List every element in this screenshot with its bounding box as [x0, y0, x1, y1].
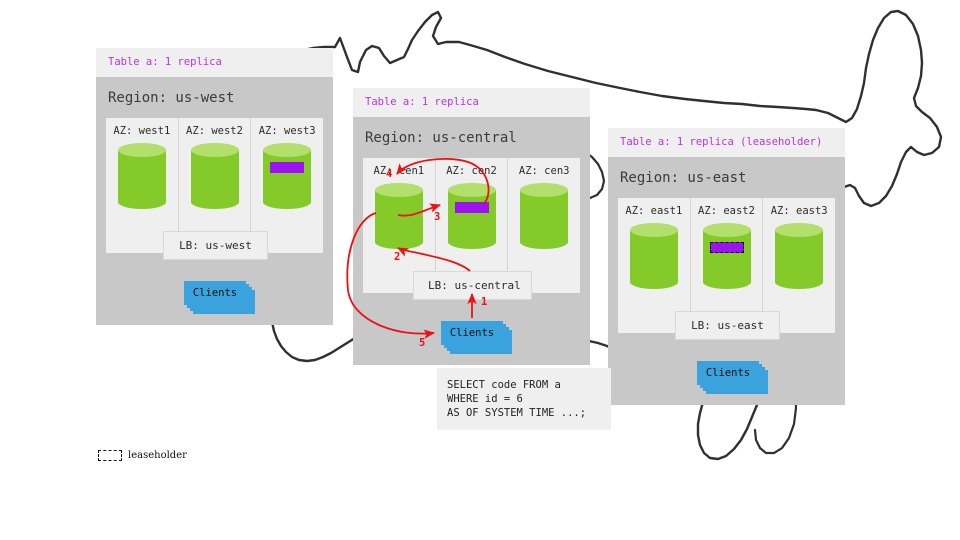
cylinder-body	[775, 230, 823, 282]
node-cylinder-east3[interactable]	[775, 223, 823, 289]
region-name-us-central: Region: us-central	[353, 117, 590, 158]
flow-step-number-3: 3	[434, 211, 440, 223]
node-cylinder-west2[interactable]	[191, 143, 239, 209]
node-cylinder-east2[interactable]	[703, 223, 751, 289]
cylinder-top	[630, 223, 678, 237]
az-label-east3: AZ: east3	[763, 205, 835, 217]
az-label-west3: AZ: west3	[251, 125, 323, 137]
range-replica-west3[interactable]	[270, 162, 304, 173]
node-cylinder-east1[interactable]	[630, 223, 678, 289]
load-balancer-us-east[interactable]: LB: us-east	[675, 311, 780, 340]
cylinder-body	[448, 190, 496, 242]
node-cylinder-cen2[interactable]	[448, 183, 496, 249]
sql-query-note: SELECT code FROM a WHERE id = 6 AS OF SY…	[437, 368, 611, 430]
region-name-us-east: Region: us-east	[608, 157, 845, 198]
diagram-canvas: Table a: 1 replica Region: us-west AZ: w…	[0, 0, 960, 540]
cylinder-body	[375, 190, 423, 242]
flow-step-number-5: 5	[419, 337, 425, 349]
az-label-west2: AZ: west2	[179, 125, 251, 137]
cylinder-body	[703, 230, 751, 282]
node-cylinder-west1[interactable]	[118, 143, 166, 209]
clients-stack-us-central[interactable]: Clients	[441, 321, 503, 345]
cylinder-top	[703, 223, 751, 237]
flow-step-number-1: 1	[481, 296, 487, 308]
range-replica-cen2[interactable]	[455, 202, 489, 213]
cylinder-top	[775, 223, 823, 237]
cylinder-body	[191, 150, 239, 202]
cylinder-body	[630, 230, 678, 282]
cylinder-top	[448, 183, 496, 197]
flow-step-number-4: 4	[386, 168, 392, 180]
node-cylinder-cen3[interactable]	[520, 183, 568, 249]
cylinder-top	[263, 143, 311, 157]
cylinder-top	[118, 143, 166, 157]
clients-label-us-central[interactable]: Clients	[441, 321, 503, 345]
node-cylinder-west3[interactable]	[263, 143, 311, 209]
cylinder-body	[118, 150, 166, 202]
range-replica-leaseholder-east2[interactable]	[710, 242, 744, 253]
az-label-east1: AZ: east1	[618, 205, 690, 217]
az-label-cen3: AZ: cen3	[508, 165, 580, 177]
region-name-us-west: Region: us-west	[96, 77, 333, 118]
cylinder-body	[520, 190, 568, 242]
cylinder-top	[520, 183, 568, 197]
az-label-west1: AZ: west1	[106, 125, 178, 137]
az-label-cen1: AZ: cen1	[363, 165, 435, 177]
load-balancer-us-west[interactable]: LB: us-west	[163, 231, 268, 260]
load-balancer-us-central[interactable]: LB: us-central	[413, 271, 532, 300]
az-label-cen2: AZ: cen2	[436, 165, 508, 177]
cylinder-top	[191, 143, 239, 157]
node-cylinder-cen1[interactable]	[375, 183, 423, 249]
leaseholder-swatch-icon	[98, 450, 122, 461]
region-replica-label-us-west: Table a: 1 replica	[96, 48, 333, 77]
clients-label-us-west[interactable]: Clients	[184, 281, 246, 305]
clients-label-us-east[interactable]: Clients	[697, 361, 759, 385]
region-replica-label-us-east: Table a: 1 replica (leaseholder)	[608, 128, 845, 157]
flow-step-number-2: 2	[394, 251, 400, 263]
legend-label: leaseholder	[128, 450, 187, 461]
clients-stack-us-east[interactable]: Clients	[697, 361, 759, 385]
clients-stack-us-west[interactable]: Clients	[184, 281, 246, 305]
cylinder-body	[263, 150, 311, 202]
legend-leaseholder: leaseholder	[98, 450, 187, 461]
cylinder-top	[375, 183, 423, 197]
region-replica-label-us-central: Table a: 1 replica	[353, 88, 590, 117]
az-label-east2: AZ: east2	[691, 205, 763, 217]
